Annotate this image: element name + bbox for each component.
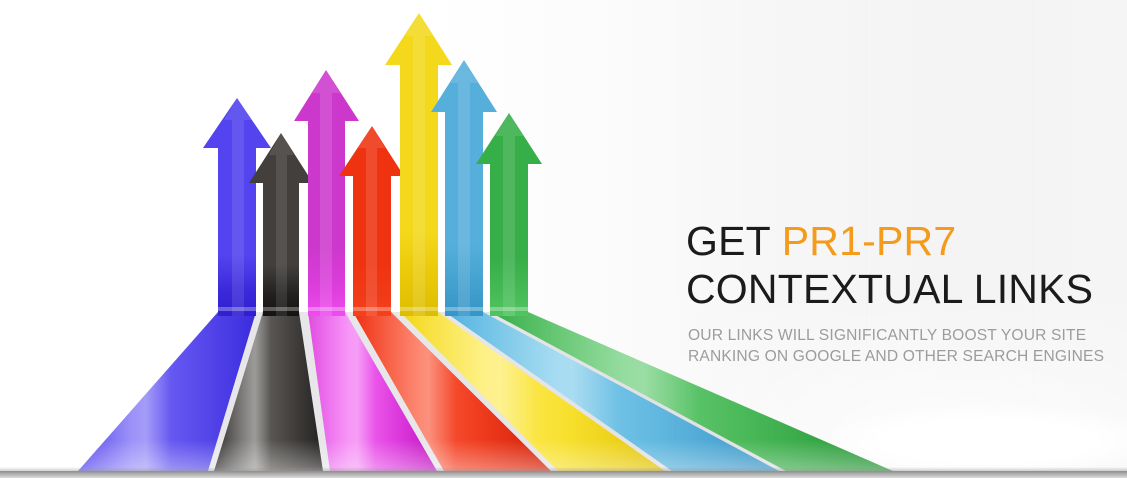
arrow-red [339, 126, 404, 316]
banner-root: GET PR1-PR7 CONTEXTUAL LINKS OUR LINKS W… [0, 0, 1127, 478]
headline-line-2: CONTEXTUAL LINKS [686, 266, 1106, 313]
arrow-cyan [431, 60, 497, 316]
headline-prefix: GET [686, 218, 770, 264]
copy-block: GET PR1-PR7 CONTEXTUAL LINKS OUR LINKS W… [686, 218, 1106, 367]
arrow-blue [203, 98, 271, 316]
subcopy-line-2: RANKING ON GOOGLE AND OTHER SEARCH ENGIN… [688, 346, 1106, 367]
headline-line-1: GET PR1-PR7 [686, 218, 1106, 265]
standing-arrows [203, 13, 542, 316]
subcopy-block: OUR LINKS WILL SIGNIFICANTLY BOOST YOUR … [688, 325, 1106, 367]
headline-accent: PR1-PR7 [782, 218, 957, 264]
fold-highlight [218, 307, 528, 311]
subcopy-line-1: OUR LINKS WILL SIGNIFICANTLY BOOST YOUR … [688, 325, 1106, 346]
arrow-magenta [294, 70, 359, 316]
arrow-black [249, 133, 313, 316]
horizon-strip [0, 471, 1127, 478]
arrow-green [476, 113, 542, 316]
